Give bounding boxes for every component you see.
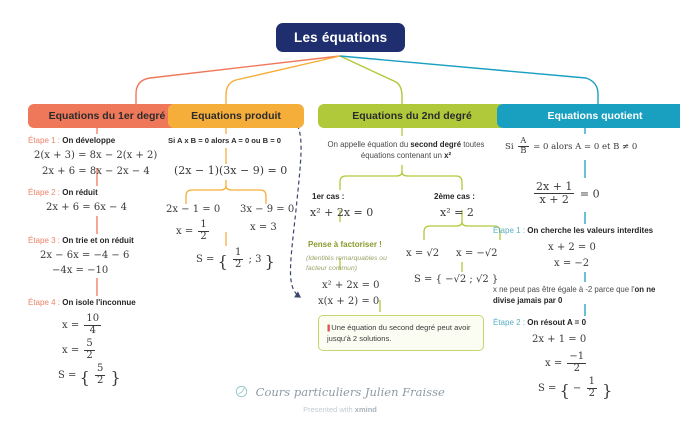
quotient-rule-fraction: A B (518, 137, 528, 156)
branch-header-label: Equations du 2nd degré (352, 110, 472, 122)
root-node-label: Les équations (294, 30, 387, 45)
branch-header-premier-degre[interactable]: Equations du 1er degré (28, 104, 186, 128)
solution-lhs: x = (545, 358, 562, 369)
quotient-step-2-heading: Étape 2 : On résout A = 0 (493, 318, 586, 327)
footer-sub-brand: xmind (355, 405, 377, 414)
quotient-equation: 2x + 1 x + 2 = 0 (532, 181, 600, 205)
footer-brand-text: Cours particuliers Julien Fraisse (256, 385, 445, 399)
fraction-numerator: −1 (567, 352, 586, 364)
footer: Cours particuliers Julien Fraisse Presen… (0, 383, 680, 414)
quotient-step-1-heading: Étape 1 : On cherche les valeurs interdi… (493, 226, 653, 235)
forbidden-value-equation: x + 2 = 0 (548, 242, 596, 253)
quotient-solve-2: x = −1 2 (545, 352, 588, 374)
fraction-denominator: B (518, 147, 528, 156)
column-quotient: Si A B = 0 alors A = 0 et B ≠ 0 2x + 1 x… (0, 0, 680, 422)
fraction-numerator: 2x + 1 (534, 181, 574, 194)
quotient-step-1-title: On cherche les valeurs interdites (527, 226, 653, 235)
footer-sub: Presented with xmind (0, 405, 680, 414)
mindmap-canvas: Les équations Equations du 1er degré Equ… (0, 0, 680, 422)
quotient-solve-1: 2x + 1 = 0 (532, 334, 586, 345)
quotient-equation-tail: = 0 (580, 188, 600, 201)
quotient-step-1-label: Étape 1 : (493, 226, 525, 235)
quotient-warning: x ne peut pas être égale à -2 parce que … (493, 284, 669, 307)
quotient-step-2-title: On résout A = 0 (527, 318, 586, 327)
branch-header-quotient[interactable]: Equations quotient (497, 104, 680, 128)
footer-sub-prefix: Presented with (303, 405, 355, 414)
root-node[interactable]: Les équations (276, 23, 405, 52)
branch-header-produit[interactable]: Equations produit (168, 104, 304, 128)
leaf-logo-icon (235, 385, 248, 403)
footer-brand-row: Cours particuliers Julien Fraisse (0, 383, 680, 403)
warning-part-1: x ne peut pas être égale à -2 parce que … (493, 285, 635, 294)
branch-header-label: Equations du 1er degré (49, 110, 166, 122)
solution-fraction: −1 2 (567, 352, 586, 374)
fraction-denominator: x + 2 (534, 194, 574, 206)
quotient-rule-pre: Si (505, 142, 514, 152)
forbidden-value-result: x = −2 (554, 258, 589, 269)
fraction-denominator: 2 (567, 364, 586, 375)
branch-header-label: Equations produit (191, 110, 281, 122)
quotient-equation-fraction: 2x + 1 x + 2 (534, 181, 574, 205)
quotient-step-2-label: Étape 2 : (493, 318, 525, 327)
quotient-rule: Si A B = 0 alors A = 0 et B ≠ 0 (505, 137, 637, 156)
branch-header-second-degre[interactable]: Equations du 2nd degré (318, 104, 506, 128)
branch-header-label: Equations quotient (547, 110, 642, 122)
quotient-rule-post: = 0 alors A = 0 et B ≠ 0 (533, 142, 637, 152)
